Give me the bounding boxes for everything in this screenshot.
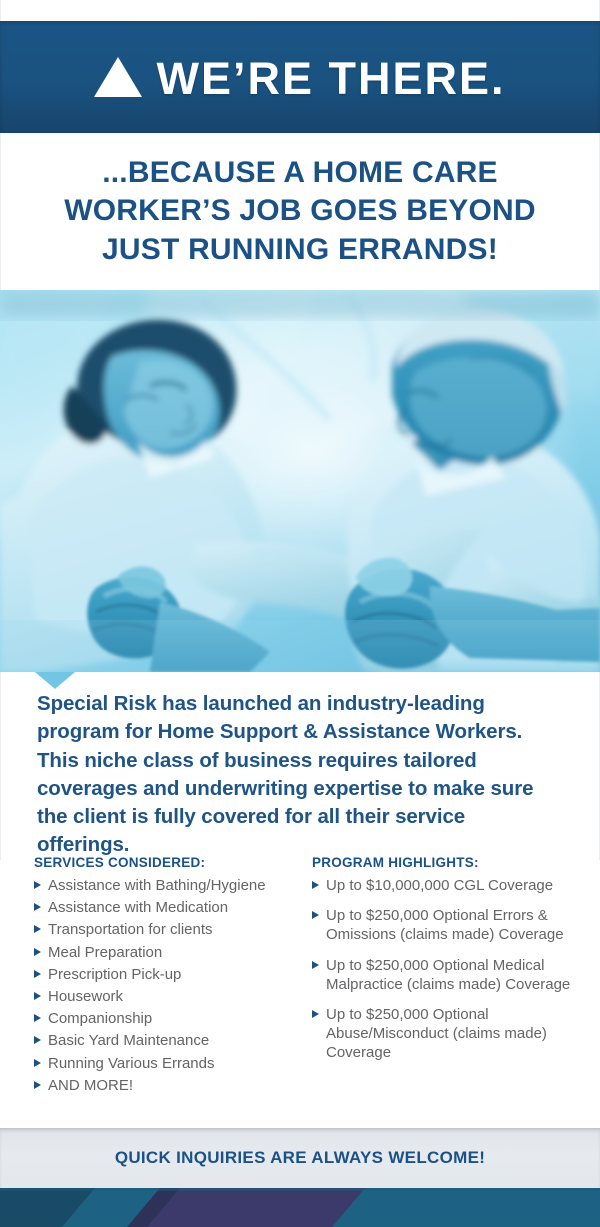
list-item-label: Transportation for clients [48, 920, 286, 939]
arrow-right-icon [34, 992, 41, 1000]
photo-notch-icon [35, 672, 75, 689]
services-heading: SERVICES CONSIDERED: [34, 855, 286, 870]
arrow-right-icon [312, 961, 319, 969]
arrow-right-icon [34, 881, 41, 889]
list-item-label: Basic Yard Maintenance [48, 1031, 286, 1050]
services-list: Assistance with Bathing/Hygiene Assistan… [34, 876, 286, 1095]
list-item-label: Meal Preparation [48, 943, 286, 962]
list-item-label: Housework [48, 987, 286, 1006]
list-item: Meal Preparation [34, 943, 286, 962]
triangle-logo-icon [94, 57, 142, 97]
flyer-page: WE’RE THERE. ...BECAUSE A HOME CARE WORK… [0, 0, 600, 1227]
list-item: Up to $250,000 Optional Errors & Omissio… [312, 906, 576, 944]
highlights-heading: PROGRAM HIGHLIGHTS: [312, 855, 576, 870]
list-item-label: Up to $250,000 Optional Medical Malpract… [326, 956, 576, 994]
footer-text: QUICK INQUIRIES ARE ALWAYS WELCOME! [115, 1148, 485, 1168]
list-item-label: Companionship [48, 1009, 286, 1028]
headline-section: ...BECAUSE A HOME CARE WORKER’S JOB GOES… [0, 133, 600, 290]
headline-text: ...BECAUSE A HOME CARE WORKER’S JOB GOES… [1, 154, 599, 268]
arrow-right-icon [312, 1010, 319, 1018]
arrow-right-icon [34, 903, 41, 911]
intro-section: Special Risk has launched an industry-le… [0, 672, 600, 860]
list-item: AND MORE! [34, 1076, 286, 1095]
list-item: Prescription Pick-up [34, 965, 286, 984]
banner-content: WE’RE THERE. [94, 56, 505, 101]
list-item-label: Up to $250,000 Optional Errors & Omissio… [326, 906, 576, 944]
list-item-label: Up to $10,000,000 CGL Coverage [326, 876, 576, 895]
services-column: SERVICES CONSIDERED: Assistance with Bat… [34, 855, 286, 1098]
list-item: Running Various Errands [34, 1054, 286, 1073]
highlights-list: Up to $10,000,000 CGL Coverage Up to $25… [312, 876, 576, 1063]
arrow-right-icon [34, 970, 41, 978]
hero-photo [0, 290, 600, 672]
list-item: Basic Yard Maintenance [34, 1031, 286, 1050]
footer-banner: QUICK INQUIRIES ARE ALWAYS WELCOME! [0, 1128, 600, 1188]
list-item: Up to $250,000 Optional Medical Malpract… [312, 956, 576, 994]
list-item-label: AND MORE! [48, 1076, 286, 1095]
highlights-column: PROGRAM HIGHLIGHTS: Up to $10,000,000 CG… [312, 855, 576, 1098]
arrow-right-icon [34, 948, 41, 956]
list-item: Companionship [34, 1009, 286, 1028]
arrow-right-icon [312, 911, 319, 919]
list-item-label: Prescription Pick-up [48, 965, 286, 984]
list-item-label: Assistance with Bathing/Hygiene [48, 876, 286, 895]
list-item: Up to $10,000,000 CGL Coverage [312, 876, 576, 895]
list-item: Up to $250,000 Optional Abuse/Misconduct… [312, 1005, 576, 1063]
list-item-label: Running Various Errands [48, 1054, 286, 1073]
arrow-right-icon [34, 1036, 41, 1044]
list-item-label: Up to $250,000 Optional Abuse/Misconduct… [326, 1005, 576, 1063]
list-item-label: Assistance with Medication [48, 898, 286, 917]
arrow-right-icon [34, 1081, 41, 1089]
arrow-right-icon [312, 881, 319, 889]
top-margin-strip [0, 0, 600, 21]
lists-section: SERVICES CONSIDERED: Assistance with Bat… [0, 855, 600, 1098]
list-item: Transportation for clients [34, 920, 286, 939]
intro-paragraph: Special Risk has launched an industry-le… [37, 690, 563, 860]
list-item: Assistance with Bathing/Hygiene [34, 876, 286, 895]
arrow-right-icon [34, 1014, 41, 1022]
list-item: Housework [34, 987, 286, 1006]
arrow-right-icon [34, 925, 41, 933]
footer-chevron-pattern [0, 1188, 600, 1227]
banner-title: WE’RE THERE. [156, 56, 505, 101]
arrow-right-icon [34, 1059, 41, 1067]
header-banner: WE’RE THERE. [0, 21, 600, 133]
list-item: Assistance with Medication [34, 898, 286, 917]
